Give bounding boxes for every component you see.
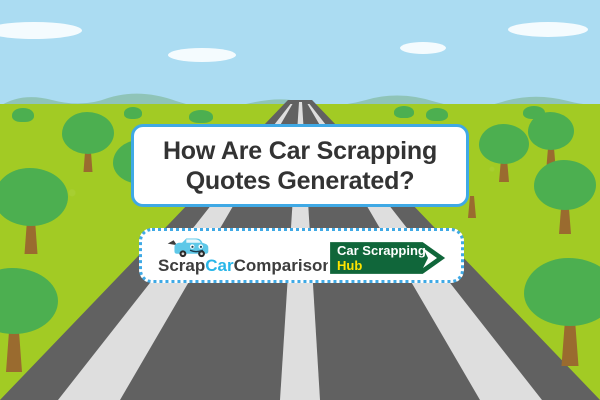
brand-logo[interactable]: ScrapCarComparison — [158, 236, 333, 275]
bush-left-3 — [189, 110, 213, 123]
brand-word-car: Car — [205, 256, 233, 275]
title-card: How Are Car Scrapping Quotes Generated? — [131, 124, 469, 207]
page-title-line-1: How Are Car Scrapping — [163, 136, 437, 166]
tree-right-3 — [534, 160, 596, 234]
hero-banner: How Are Car Scrapping Quotes Generated? — [0, 0, 600, 400]
tree-left-1 — [62, 112, 114, 172]
tree-left-3 — [0, 168, 68, 254]
brand-wordmark: ScrapCarComparison — [158, 257, 333, 275]
smiling-car-icon — [166, 236, 206, 256]
tree-right-2 — [479, 124, 529, 182]
car-scrapping-hub-badge[interactable]: Car Scrapping Hub — [327, 239, 451, 277]
tree-right-4 — [524, 258, 600, 366]
cloud-2 — [168, 48, 236, 62]
bush-left-1 — [12, 108, 34, 122]
tree-right-1 — [528, 112, 574, 166]
bush-right-2 — [426, 108, 448, 121]
hub-sign-line-2: Hub — [337, 258, 426, 273]
bush-right-1 — [394, 106, 414, 118]
brand-word-scrap: Scrap — [158, 256, 205, 275]
cloud-3 — [400, 42, 446, 54]
brand-word-comparison: Comparison — [234, 256, 333, 275]
cloud-4 — [508, 22, 588, 37]
hub-sign-line-1: Car Scrapping — [337, 243, 426, 258]
page-title-line-2: Quotes Generated? — [186, 166, 415, 196]
tree-left-4 — [0, 268, 58, 372]
bush-left-2 — [124, 107, 142, 119]
logo-bar: ScrapCarComparison Car Scrapping Hub — [139, 228, 464, 283]
